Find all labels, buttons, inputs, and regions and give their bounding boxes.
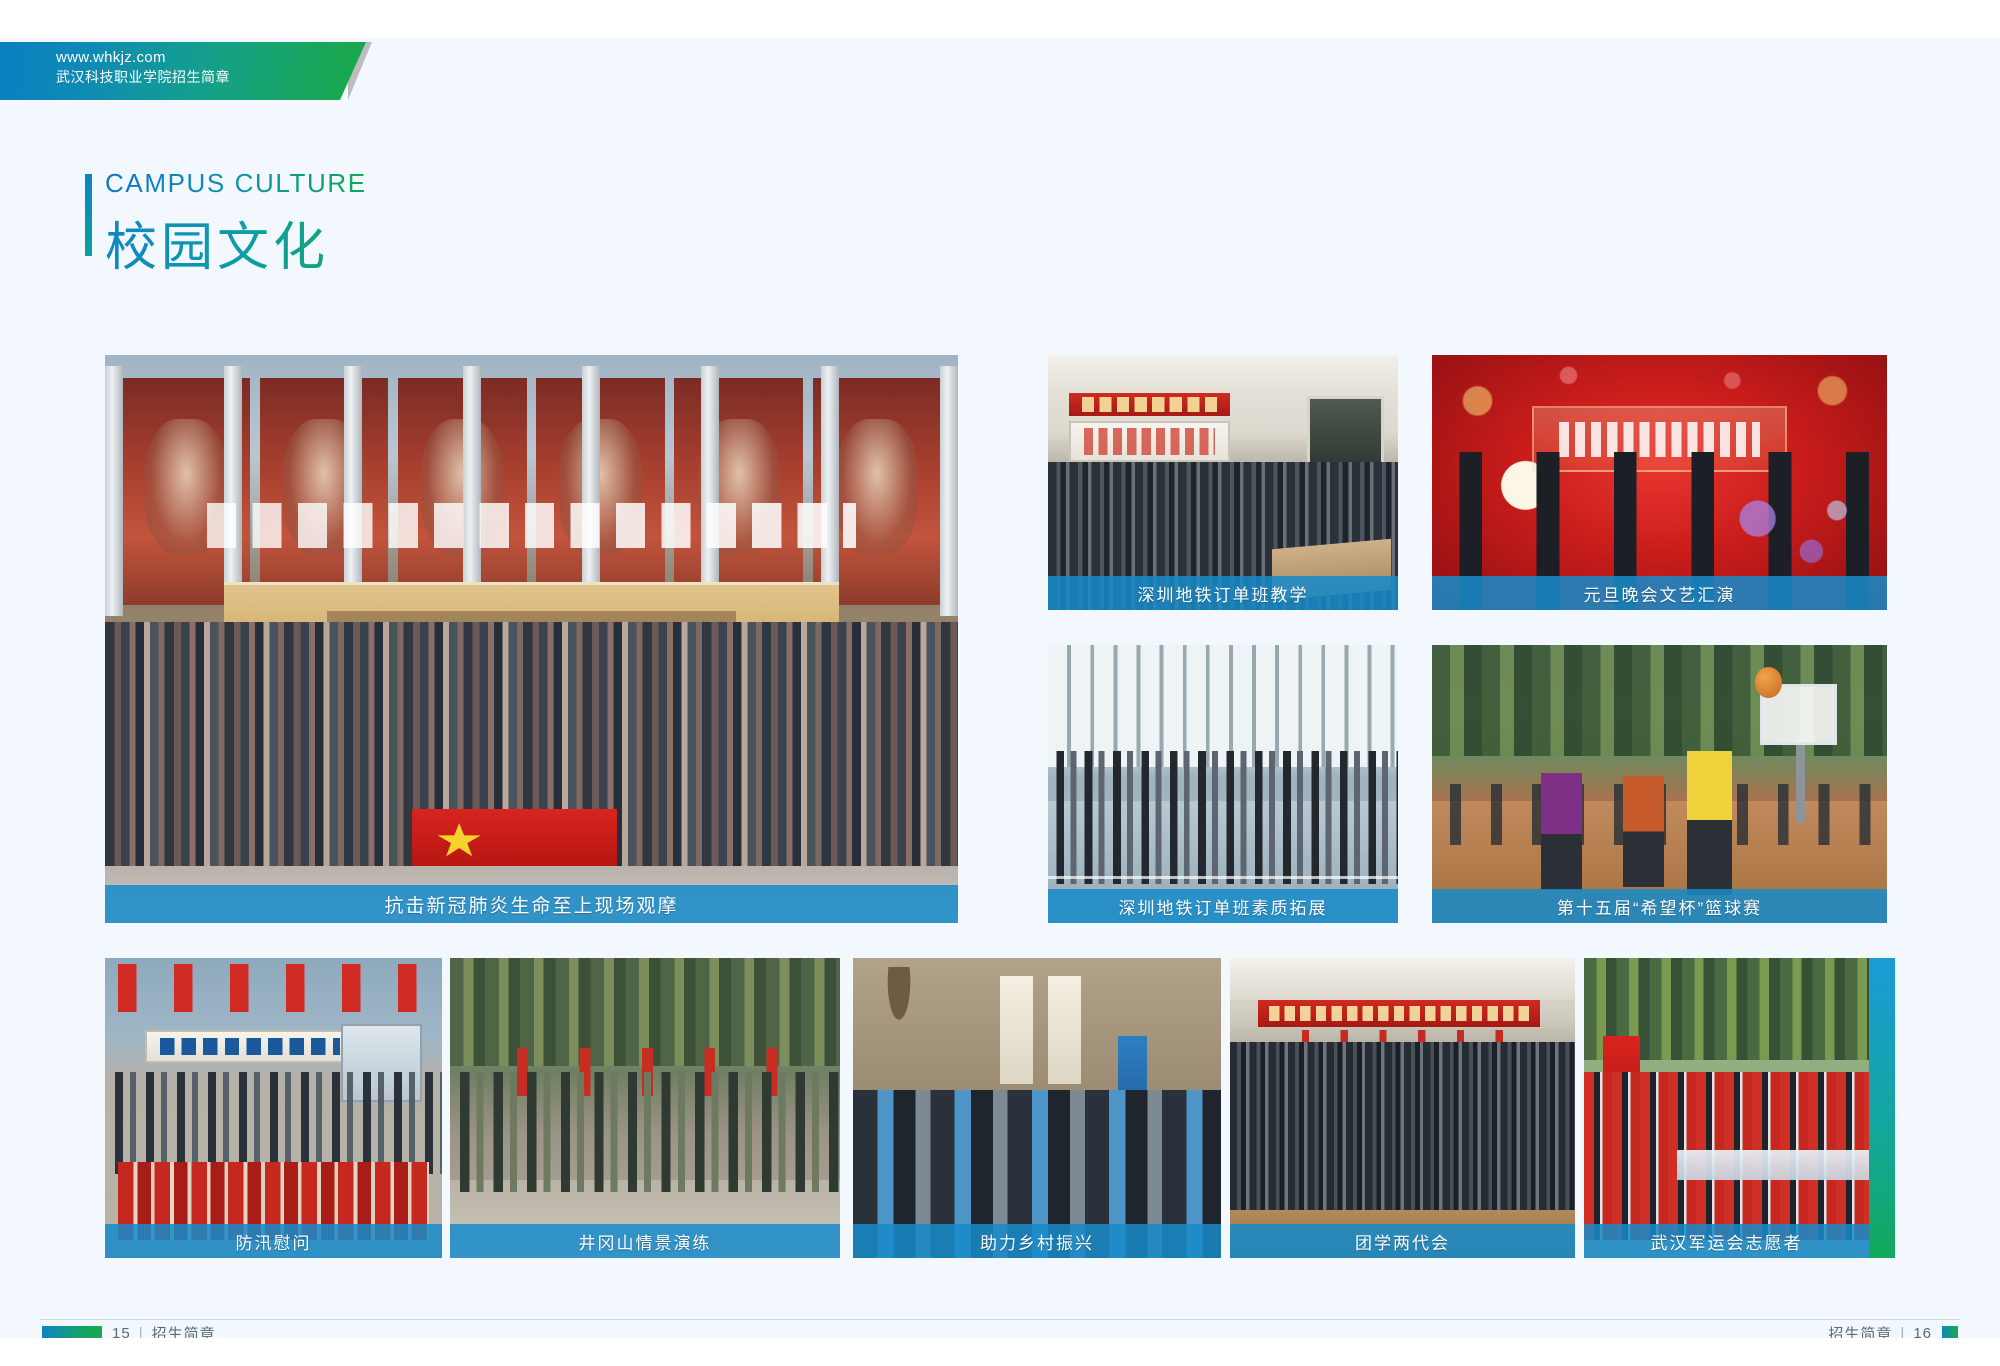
photo-caption: 第十五届“希望杯”篮球赛 <box>1432 889 1887 923</box>
basketball-player-purple <box>1541 773 1582 890</box>
title-accent-bar <box>85 174 92 256</box>
photo-card-basketball[interactable]: 第十五届“希望杯”篮球赛 <box>1432 645 1887 923</box>
party-flag <box>412 809 617 871</box>
photo-caption: 深圳地铁订单班素质拓展 <box>1048 889 1398 923</box>
photo-card-jinggangshan[interactable]: 井冈山情景演练 <box>450 958 840 1258</box>
flood-site-sign <box>145 1030 354 1063</box>
volunteers-banner <box>1677 1150 1870 1180</box>
classroom-window <box>1307 396 1384 473</box>
photo-card-classroom[interactable]: 深圳地铁订单班教学 <box>1048 355 1398 610</box>
photo-caption: 助力乡村振兴 <box>853 1224 1221 1258</box>
drill-participants <box>450 1072 840 1192</box>
basketball-ball <box>1755 667 1782 698</box>
brochure-page: www.whkjz.com 武汉科技职业学院招生简章 CAMPUS CULTUR… <box>0 0 2000 1366</box>
photo-card-flood-relief[interactable]: 防汛慰问 <box>105 958 442 1258</box>
gym-court-line <box>1048 876 1398 879</box>
basketball-player-yellow <box>1687 751 1733 896</box>
section-title: CAMPUS CULTURE 校园文化 <box>105 168 367 280</box>
congress-delegates <box>1230 1042 1575 1216</box>
rural-wall-scroll-right <box>1048 976 1081 1084</box>
photo-caption: 深圳地铁订单班教学 <box>1048 576 1398 610</box>
flood-relief-photo <box>105 958 442 1258</box>
congress-ceiling <box>1230 958 1575 1000</box>
basketball-photo <box>1432 645 1887 923</box>
bottom-row-accent-bar <box>1869 958 1895 1258</box>
page-top-margin <box>0 0 2000 38</box>
section-title-chinese: 校园文化 <box>105 205 367 280</box>
page-bottom-margin <box>0 1338 2000 1366</box>
website-url[interactable]: www.whkjz.com <box>56 48 230 68</box>
photo-card-feature[interactable]: 抗击新冠肺炎生命至上现场观摩 <box>105 355 958 923</box>
photo-card-gala[interactable]: 元旦晚会文艺汇演 <box>1432 355 1887 610</box>
header-text-block: www.whkjz.com 武汉科技职业学院招生简章 <box>56 48 230 87</box>
photo-card-rural[interactable]: 助力乡村振兴 <box>853 958 1221 1258</box>
congress-red-banner <box>1258 1000 1541 1027</box>
jinggangshan-photo <box>450 958 840 1258</box>
photo-caption: 防汛慰问 <box>105 1224 442 1258</box>
flood-volunteers <box>105 1072 442 1174</box>
section-title-english: CAMPUS CULTURE <box>105 168 367 199</box>
photo-card-gym[interactable]: 深圳地铁订单班素质拓展 <box>1048 645 1398 923</box>
student-congress-photo <box>1230 958 1575 1258</box>
classroom-red-banner <box>1069 393 1230 416</box>
photo-caption: 抗击新冠肺炎生命至上现场观摩 <box>105 885 958 923</box>
gymnasium-photo <box>1048 645 1398 923</box>
photo-caption: 元旦晚会文艺汇演 <box>1432 576 1887 610</box>
header-banner: www.whkjz.com 武汉科技职业学院招生简章 <box>0 42 390 100</box>
institution-name: 武汉科技职业学院招生简章 <box>56 68 230 87</box>
photo-card-volunteers[interactable]: 武汉军运会志愿者 <box>1584 958 1895 1258</box>
memorial-hall-photo <box>105 355 958 923</box>
photo-caption: 团学两代会 <box>1230 1224 1575 1258</box>
flood-red-flags <box>118 964 428 1012</box>
rural-hanging-broom <box>882 967 915 1039</box>
photo-card-congress[interactable]: 团学两代会 <box>1230 958 1575 1258</box>
rural-wall-scroll-left <box>1000 976 1033 1084</box>
photo-caption: 井冈山情景演练 <box>450 1224 840 1258</box>
basketball-hoop-pole <box>1796 740 1805 823</box>
gym-students-line <box>1048 751 1398 884</box>
classroom-photo <box>1048 355 1398 610</box>
header-banner-green-tail <box>340 42 366 100</box>
classroom-notice-board <box>1069 421 1230 462</box>
gala-heart-decorations <box>1732 488 1859 590</box>
rural-revitalization-photo <box>853 958 1221 1258</box>
photo-caption: 武汉军运会志愿者 <box>1584 1224 1869 1258</box>
hall-slogan-text <box>207 503 855 548</box>
military-games-volunteers-photo <box>1584 958 1895 1258</box>
new-year-gala-photo <box>1432 355 1887 610</box>
hall-columns <box>105 366 958 616</box>
footer-divider <box>40 1319 1960 1320</box>
basketball-player-orange <box>1623 776 1664 887</box>
gym-window-wall <box>1048 645 1398 767</box>
